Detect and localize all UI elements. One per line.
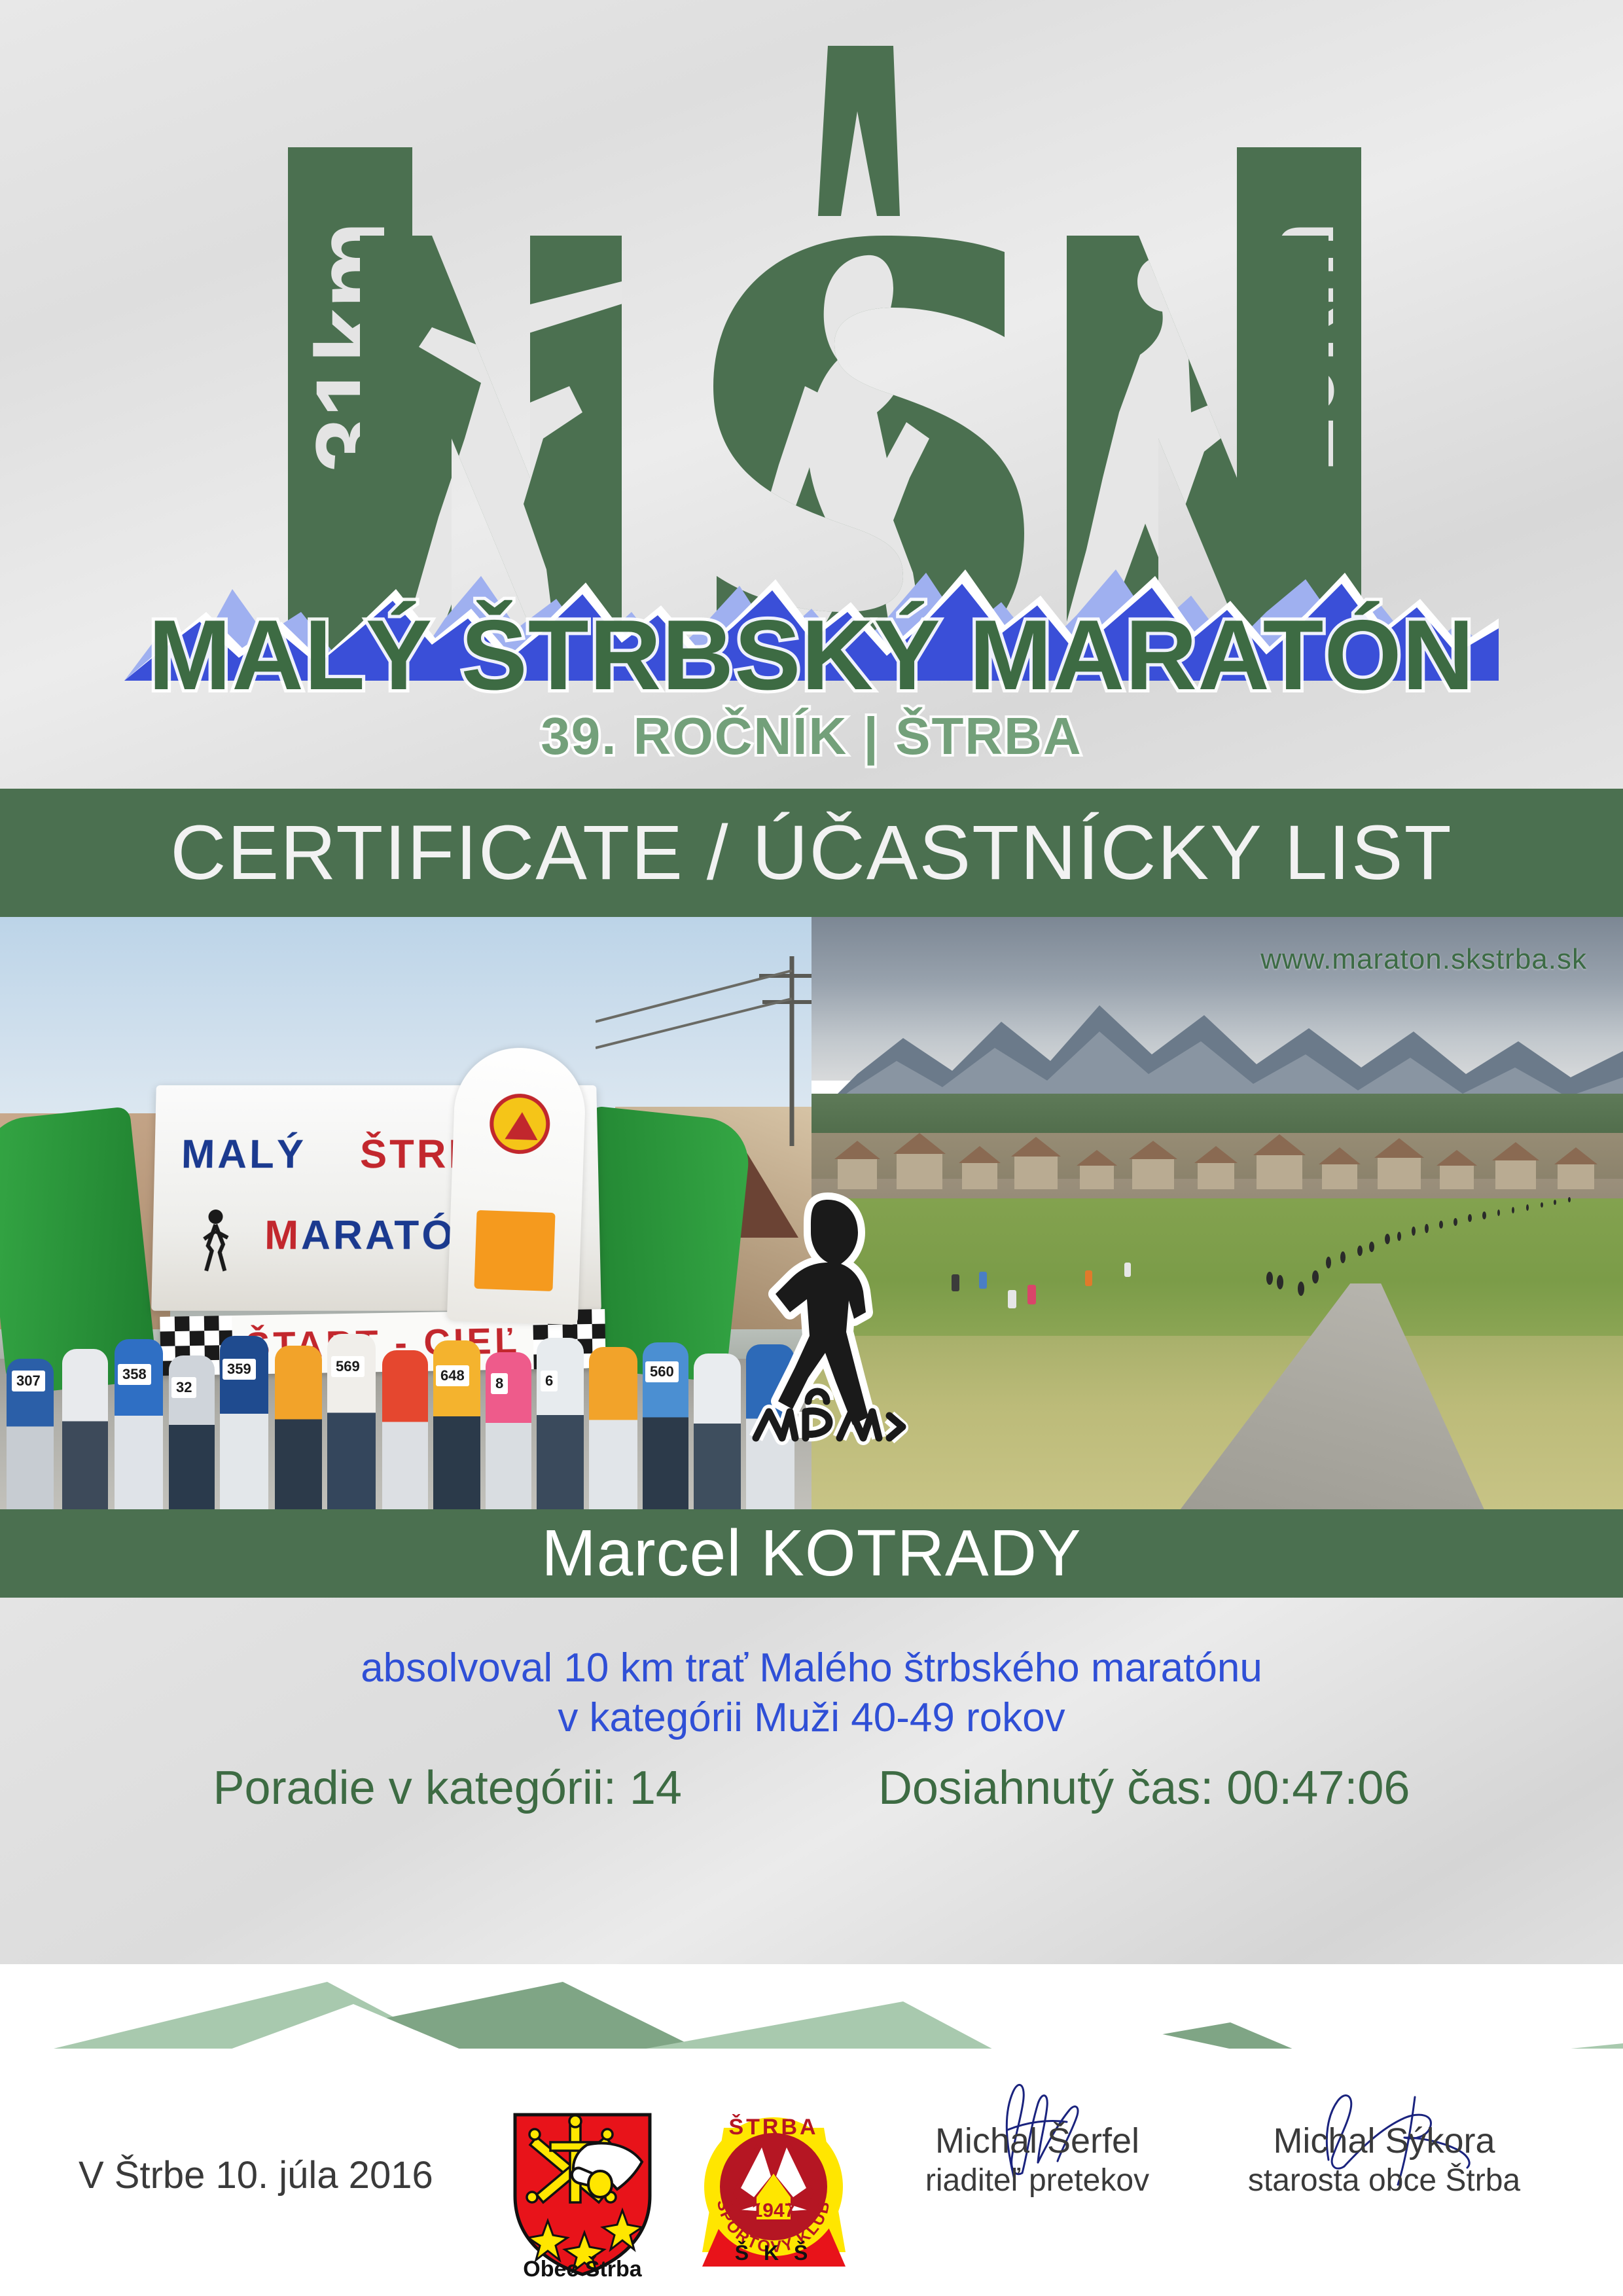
rank-in-category: Poradie v kategórii: 14 xyxy=(213,1761,682,1815)
runner-bib: 358 xyxy=(118,1364,151,1385)
header-title-block: MALÝ ŠTRBSKÝ MARATÓN 39. ROČNÍK | ŠTRBA xyxy=(124,605,1499,762)
sks-club-emblem: ŠTRBA 1947 ŠPORTOVÝ KLUB Š K Š xyxy=(694,2104,854,2271)
page-title: MALÝ ŠTRBSKÝ MARATÓN xyxy=(124,605,1499,705)
runner-bib: 560 xyxy=(645,1361,679,1382)
runner-figure xyxy=(589,1347,637,1509)
runner-bib: 6 xyxy=(541,1371,558,1391)
msm-logo: 31km 10km xyxy=(124,0,1499,789)
signature-role-2: starosta obce Štrba xyxy=(1214,2162,1554,2198)
runner-bib: 307 xyxy=(12,1371,45,1391)
sks-year: 1947 xyxy=(752,2200,796,2221)
signature-block-director: Michal Šerfel riaditeľ pretekov xyxy=(867,2121,1207,2198)
arch-word-maly: MALÝ xyxy=(181,1132,306,1177)
signature-role-1: riaditeľ pretekov xyxy=(867,2162,1207,2198)
photo-start-line: MALÝ ŠTRBSKÝ MARATÓN xyxy=(0,917,811,1509)
msm-mini-icon-left xyxy=(192,1205,239,1278)
place-and-date: V Štrbe 10. júla 2016 xyxy=(79,2153,433,2197)
runner-bib: 648 xyxy=(436,1365,469,1386)
certificate-page: 31km 10km xyxy=(0,0,1623,2296)
runner-bib: 32 xyxy=(171,1377,196,1398)
runner-bib: 359 xyxy=(223,1359,256,1380)
runner-bib: 8 xyxy=(491,1373,508,1394)
certificate-footer: V Štrbe 10. júla 2016 Obec Štrba xyxy=(0,2049,1623,2296)
certificate-banner: CERTIFICATE / ÚČASTNÍCKY LIST xyxy=(0,789,1623,917)
participant-name: Marcel KOTRADY xyxy=(541,1516,1081,1591)
sponsor-flag xyxy=(447,1046,588,1325)
runner-bib: 569 xyxy=(331,1356,365,1377)
website-url[interactable]: www.maraton.skstrba.sk xyxy=(1260,943,1587,976)
results-block: Poradie v kategórii: 14 Dosiahnutý čas: … xyxy=(0,1761,1623,1815)
runner-crowd: 307 358 32 359 569 648 8 6 560 xyxy=(0,1293,811,1509)
obec-strba-emblem xyxy=(507,2111,658,2281)
runner-figure xyxy=(382,1350,428,1509)
certificate-banner-title: CERTIFICATE / ÚČASTNÍCKY LIST xyxy=(170,808,1452,897)
signature-name-2: Michal Sýkora xyxy=(1214,2121,1554,2161)
sponsor-flag-block xyxy=(474,1210,555,1291)
header-logo-section: 31km 10km xyxy=(0,0,1623,789)
signature-block-mayor: Michal Sýkora starosta obce Štrba xyxy=(1214,2121,1554,2198)
participant-name-banner: Marcel KOTRADY xyxy=(0,1509,1623,1598)
sks-initials: Š K Š xyxy=(735,2241,813,2265)
sks-top-text: ŠTRBA xyxy=(728,2114,818,2140)
description-line-2: v kategórii Muži 40-49 rokov xyxy=(0,1693,1623,1743)
runner-figure xyxy=(62,1349,108,1509)
obec-strba-caption: Obec Štrba xyxy=(507,2257,658,2282)
logo-caron-s xyxy=(818,46,900,216)
runners-on-road xyxy=(811,1179,1623,1509)
arch-word-maraton-m: M xyxy=(264,1213,302,1258)
runner-figure xyxy=(537,1338,584,1509)
page-subtitle: 39. ROČNÍK | ŠTRBA xyxy=(124,710,1499,762)
description-block: absolvoval 10 km trať Malého štrbského m… xyxy=(0,1643,1623,1742)
signature-name-1: Michal Šerfel xyxy=(867,2121,1207,2161)
description-line-1: absolvoval 10 km trať Malého štrbského m… xyxy=(0,1643,1623,1693)
photo-landscape: www.maraton.skstrba.sk xyxy=(811,917,1623,1509)
msm-runner-overlay-logo xyxy=(730,1181,913,1456)
runner-figure xyxy=(275,1346,322,1509)
achieved-time: Dosiahnutý čas: 00:47:06 xyxy=(878,1761,1410,1815)
certificate-body: absolvoval 10 km trať Malého štrbského m… xyxy=(0,1598,1623,1964)
sponsor-badge-icon xyxy=(489,1093,551,1155)
